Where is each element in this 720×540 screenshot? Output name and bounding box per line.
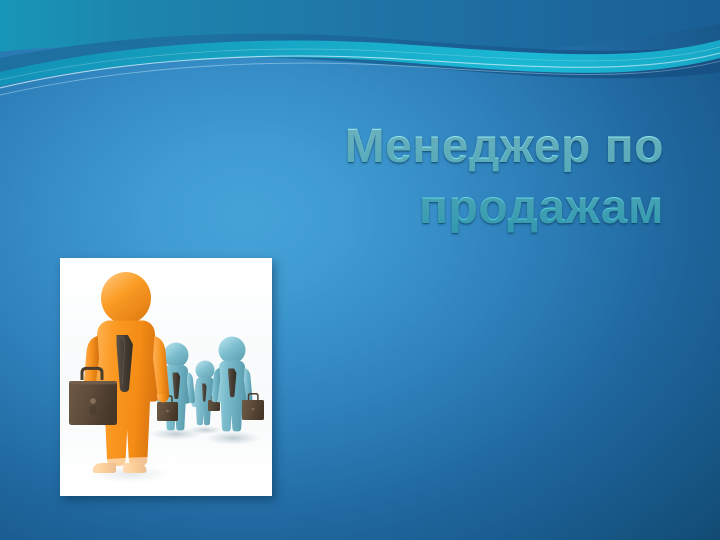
presentation-slide: Менеджер по продажам xyxy=(0,0,720,540)
floor-highlight xyxy=(60,456,272,496)
slide-title-text: Менеджер по продажам xyxy=(180,116,664,239)
shadow-back-right xyxy=(201,430,265,446)
slide-picture-frame xyxy=(60,258,272,496)
wave-hairline-secondary xyxy=(0,61,720,95)
wave-dark-band xyxy=(0,34,720,79)
figure-head xyxy=(101,272,151,324)
wave-top-fill xyxy=(0,0,720,57)
slide-title: Менеджер по продажам xyxy=(180,116,664,239)
wave-hairline-tertiary xyxy=(0,47,720,80)
sales-team-3d-figures-icon xyxy=(60,258,272,496)
wave-hairline-primary xyxy=(0,53,720,88)
background-wave-decoration xyxy=(0,0,720,110)
wave-cyan-band xyxy=(0,40,720,86)
